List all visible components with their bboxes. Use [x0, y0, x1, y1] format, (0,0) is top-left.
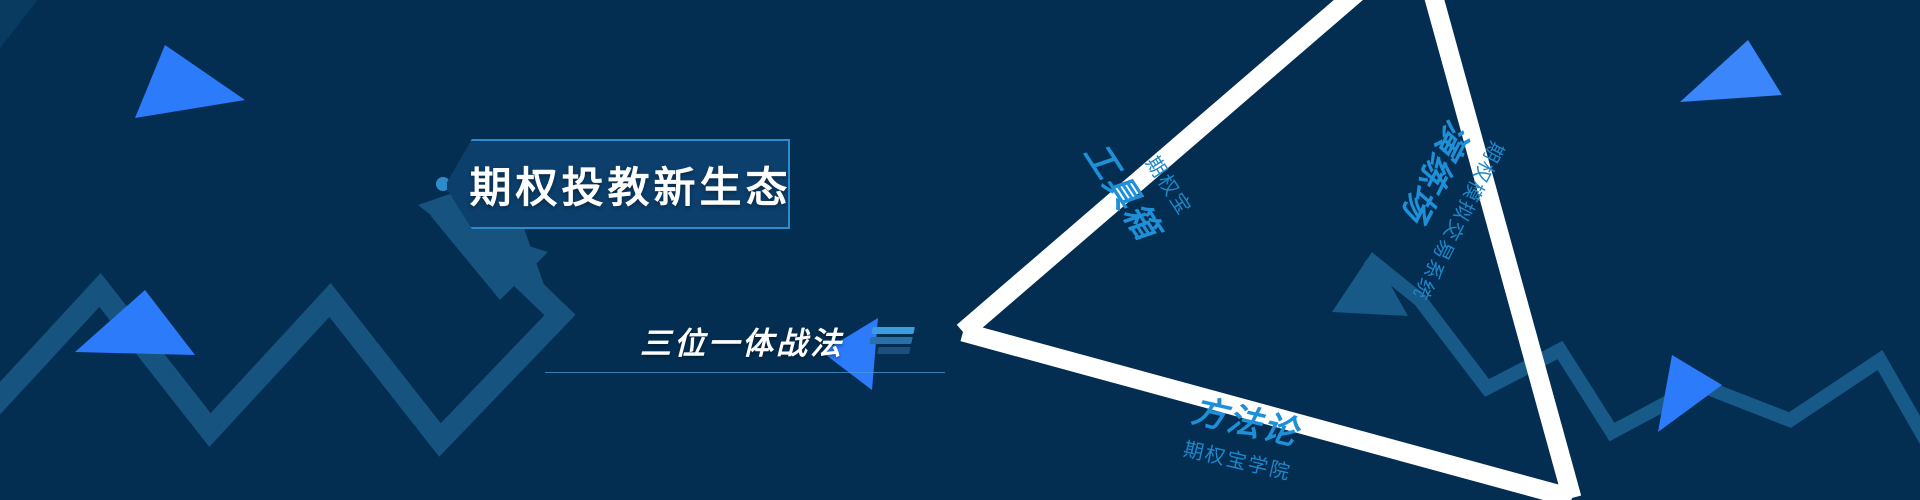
page-title: 期权投教新生态: [445, 139, 790, 229]
triangle-top-left: [135, 45, 245, 118]
decoration-layer: [0, 0, 1920, 500]
subtitle-row: 三位一体战法: [640, 318, 912, 363]
title-text: 期权投教新生态: [470, 154, 792, 215]
left-chart-arrow-tail: [0, 355, 40, 430]
subtitle-underline: [545, 372, 945, 373]
stepped-bars-icon: [867, 327, 915, 354]
triangle-top-right: [1680, 40, 1782, 102]
promo-banner: 期权投教新生态 三位一体战法 期权宝 工具箱 期权模拟交易系统 演练场 方法论 …: [0, 0, 1920, 500]
subtitle-text: 三位一体战法: [640, 318, 844, 363]
